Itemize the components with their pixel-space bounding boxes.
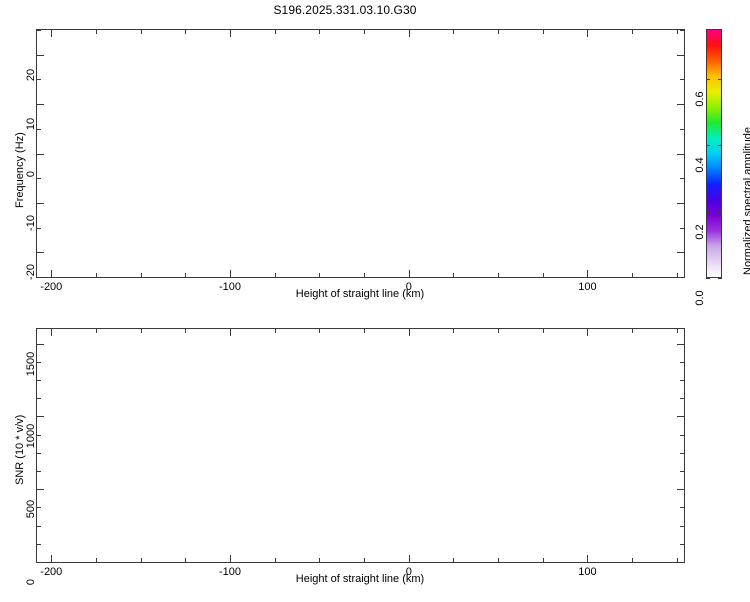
axis-tick xyxy=(632,329,633,333)
y-tick-label: 1000 xyxy=(25,416,37,456)
axis-tick xyxy=(37,203,44,204)
axis-tick xyxy=(51,270,52,277)
axis-tick xyxy=(37,453,41,454)
axis-tick xyxy=(37,489,44,490)
snr-x-axis-title: Height of straight line (km) xyxy=(296,573,424,585)
axis-tick xyxy=(37,277,41,278)
y-tick-label: -20 xyxy=(25,252,37,292)
axis-tick xyxy=(453,329,454,333)
y-tick-label: -10 xyxy=(25,203,37,243)
axis-tick xyxy=(587,555,588,562)
y-tick-label: 0 xyxy=(25,562,37,602)
axis-tick xyxy=(587,270,588,277)
colorbar-tick xyxy=(718,145,722,146)
axis-tick xyxy=(37,30,41,31)
axis-tick xyxy=(680,380,684,381)
axis-tick xyxy=(680,471,684,472)
axis-tick xyxy=(275,273,276,277)
axis-tick xyxy=(37,362,41,363)
axis-tick xyxy=(680,30,684,31)
spectrogram-panel xyxy=(36,29,685,278)
axis-tick xyxy=(37,252,44,253)
axis-tick xyxy=(230,270,231,277)
axis-tick xyxy=(37,435,41,436)
axis-tick xyxy=(498,273,499,277)
colorbar-tick xyxy=(718,212,722,213)
snr-panel xyxy=(36,328,685,563)
axis-tick xyxy=(632,30,633,34)
axis-tick xyxy=(51,555,52,562)
axis-tick xyxy=(680,398,684,399)
axis-tick xyxy=(141,329,142,333)
axis-tick xyxy=(409,555,410,562)
x-tick-label: 100 xyxy=(578,281,596,293)
axis-tick xyxy=(680,453,684,454)
axis-tick xyxy=(677,104,684,105)
axis-tick xyxy=(632,558,633,562)
axis-tick xyxy=(409,329,410,336)
colorbar-tick xyxy=(706,145,710,146)
spectrogram-y-axis-title: Frequency (Hz) xyxy=(14,132,26,208)
axis-tick xyxy=(185,329,186,333)
axis-tick xyxy=(230,329,231,336)
axis-tick xyxy=(543,558,544,562)
axis-tick xyxy=(96,273,97,277)
axis-tick xyxy=(680,277,684,278)
axis-tick xyxy=(185,30,186,34)
axis-tick xyxy=(37,55,44,56)
axis-tick xyxy=(37,178,41,179)
axis-tick xyxy=(543,30,544,34)
axis-tick xyxy=(37,104,44,105)
figure-root: S196.2025.331.03.10.G30 -200-1000100 -20… xyxy=(0,0,750,600)
axis-tick xyxy=(37,416,44,417)
axis-tick xyxy=(230,30,231,37)
axis-tick xyxy=(680,129,684,130)
axis-tick xyxy=(364,558,365,562)
axis-tick xyxy=(37,344,44,345)
axis-tick xyxy=(543,329,544,333)
y-tick-label: 1500 xyxy=(25,344,37,384)
colorbar-tick xyxy=(718,79,722,80)
axis-tick xyxy=(37,471,41,472)
axis-tick xyxy=(37,562,44,563)
axis-tick xyxy=(677,203,684,204)
axis-tick xyxy=(37,398,41,399)
axis-tick xyxy=(677,273,678,277)
axis-tick xyxy=(37,154,44,155)
colorbar-tick-label: 0.4 xyxy=(694,145,706,185)
colorbar-tick xyxy=(706,278,710,279)
axis-tick xyxy=(37,79,41,80)
axis-tick xyxy=(275,558,276,562)
y-tick-label: 10 xyxy=(25,104,37,144)
axis-tick xyxy=(51,329,52,336)
axis-tick xyxy=(141,273,142,277)
x-tick-label: 100 xyxy=(578,566,596,578)
axis-tick xyxy=(141,558,142,562)
axis-tick xyxy=(185,273,186,277)
y-tick-label: 0 xyxy=(25,154,37,194)
page-title: S196.2025.331.03.10.G30 xyxy=(0,3,690,17)
axis-tick xyxy=(680,544,684,545)
axis-tick xyxy=(409,30,410,37)
axis-tick xyxy=(96,30,97,34)
colorbar-tick xyxy=(706,212,710,213)
colorbar-tick xyxy=(718,278,722,279)
axis-tick xyxy=(364,329,365,333)
axis-tick xyxy=(680,526,684,527)
axis-tick xyxy=(275,329,276,333)
axis-tick xyxy=(51,30,52,37)
axis-tick xyxy=(96,329,97,333)
axis-tick xyxy=(498,558,499,562)
axis-tick xyxy=(680,435,684,436)
axis-tick xyxy=(677,329,678,333)
axis-tick xyxy=(680,362,684,363)
y-tick-label: 500 xyxy=(25,489,37,529)
axis-tick xyxy=(453,30,454,34)
axis-tick xyxy=(96,558,97,562)
axis-tick xyxy=(677,252,684,253)
axis-tick xyxy=(677,489,684,490)
colorbar-tick-label: 0.0 xyxy=(694,278,706,318)
axis-tick xyxy=(498,30,499,34)
axis-tick xyxy=(141,30,142,34)
axis-tick xyxy=(37,544,41,545)
axis-tick xyxy=(319,329,320,333)
axis-tick xyxy=(680,79,684,80)
axis-tick xyxy=(453,558,454,562)
axis-tick xyxy=(364,30,365,34)
axis-tick xyxy=(37,228,41,229)
axis-tick xyxy=(319,273,320,277)
colorbar-tick-label: 0.6 xyxy=(694,79,706,119)
snr-y-axis-title: SNR (10 * v/v) xyxy=(14,415,26,485)
colorbar-tick xyxy=(706,79,710,80)
axis-tick xyxy=(677,562,684,563)
axis-tick xyxy=(319,558,320,562)
axis-tick xyxy=(498,329,499,333)
x-tick-label: -100 xyxy=(219,281,241,293)
axis-tick xyxy=(409,270,410,277)
axis-tick xyxy=(677,154,684,155)
axis-tick xyxy=(364,273,365,277)
axis-tick xyxy=(230,555,231,562)
x-tick-label: -200 xyxy=(40,566,62,578)
axis-tick xyxy=(587,30,588,37)
axis-tick xyxy=(677,344,684,345)
axis-tick xyxy=(319,30,320,34)
colorbar-gradient xyxy=(707,30,721,277)
axis-tick xyxy=(185,558,186,562)
axis-tick xyxy=(37,507,41,508)
x-tick-label: -200 xyxy=(40,281,62,293)
spectrogram-x-axis-title: Height of straight line (km) xyxy=(296,288,424,300)
colorbar xyxy=(706,29,722,278)
axis-tick xyxy=(680,228,684,229)
axis-tick xyxy=(543,273,544,277)
axis-tick xyxy=(680,178,684,179)
y-tick-label: 20 xyxy=(25,55,37,95)
colorbar-tick-label: 0.2 xyxy=(694,212,706,252)
axis-tick xyxy=(680,507,684,508)
axis-tick xyxy=(632,273,633,277)
axis-tick xyxy=(275,30,276,34)
axis-tick xyxy=(587,329,588,336)
axis-tick xyxy=(677,30,678,34)
x-tick-label: -100 xyxy=(219,566,241,578)
axis-tick xyxy=(37,129,41,130)
colorbar-title: Normalized spectral amplitude xyxy=(742,127,750,275)
axis-tick xyxy=(37,526,41,527)
axis-tick xyxy=(37,380,41,381)
axis-tick xyxy=(677,55,684,56)
axis-tick xyxy=(677,416,684,417)
axis-tick xyxy=(453,273,454,277)
